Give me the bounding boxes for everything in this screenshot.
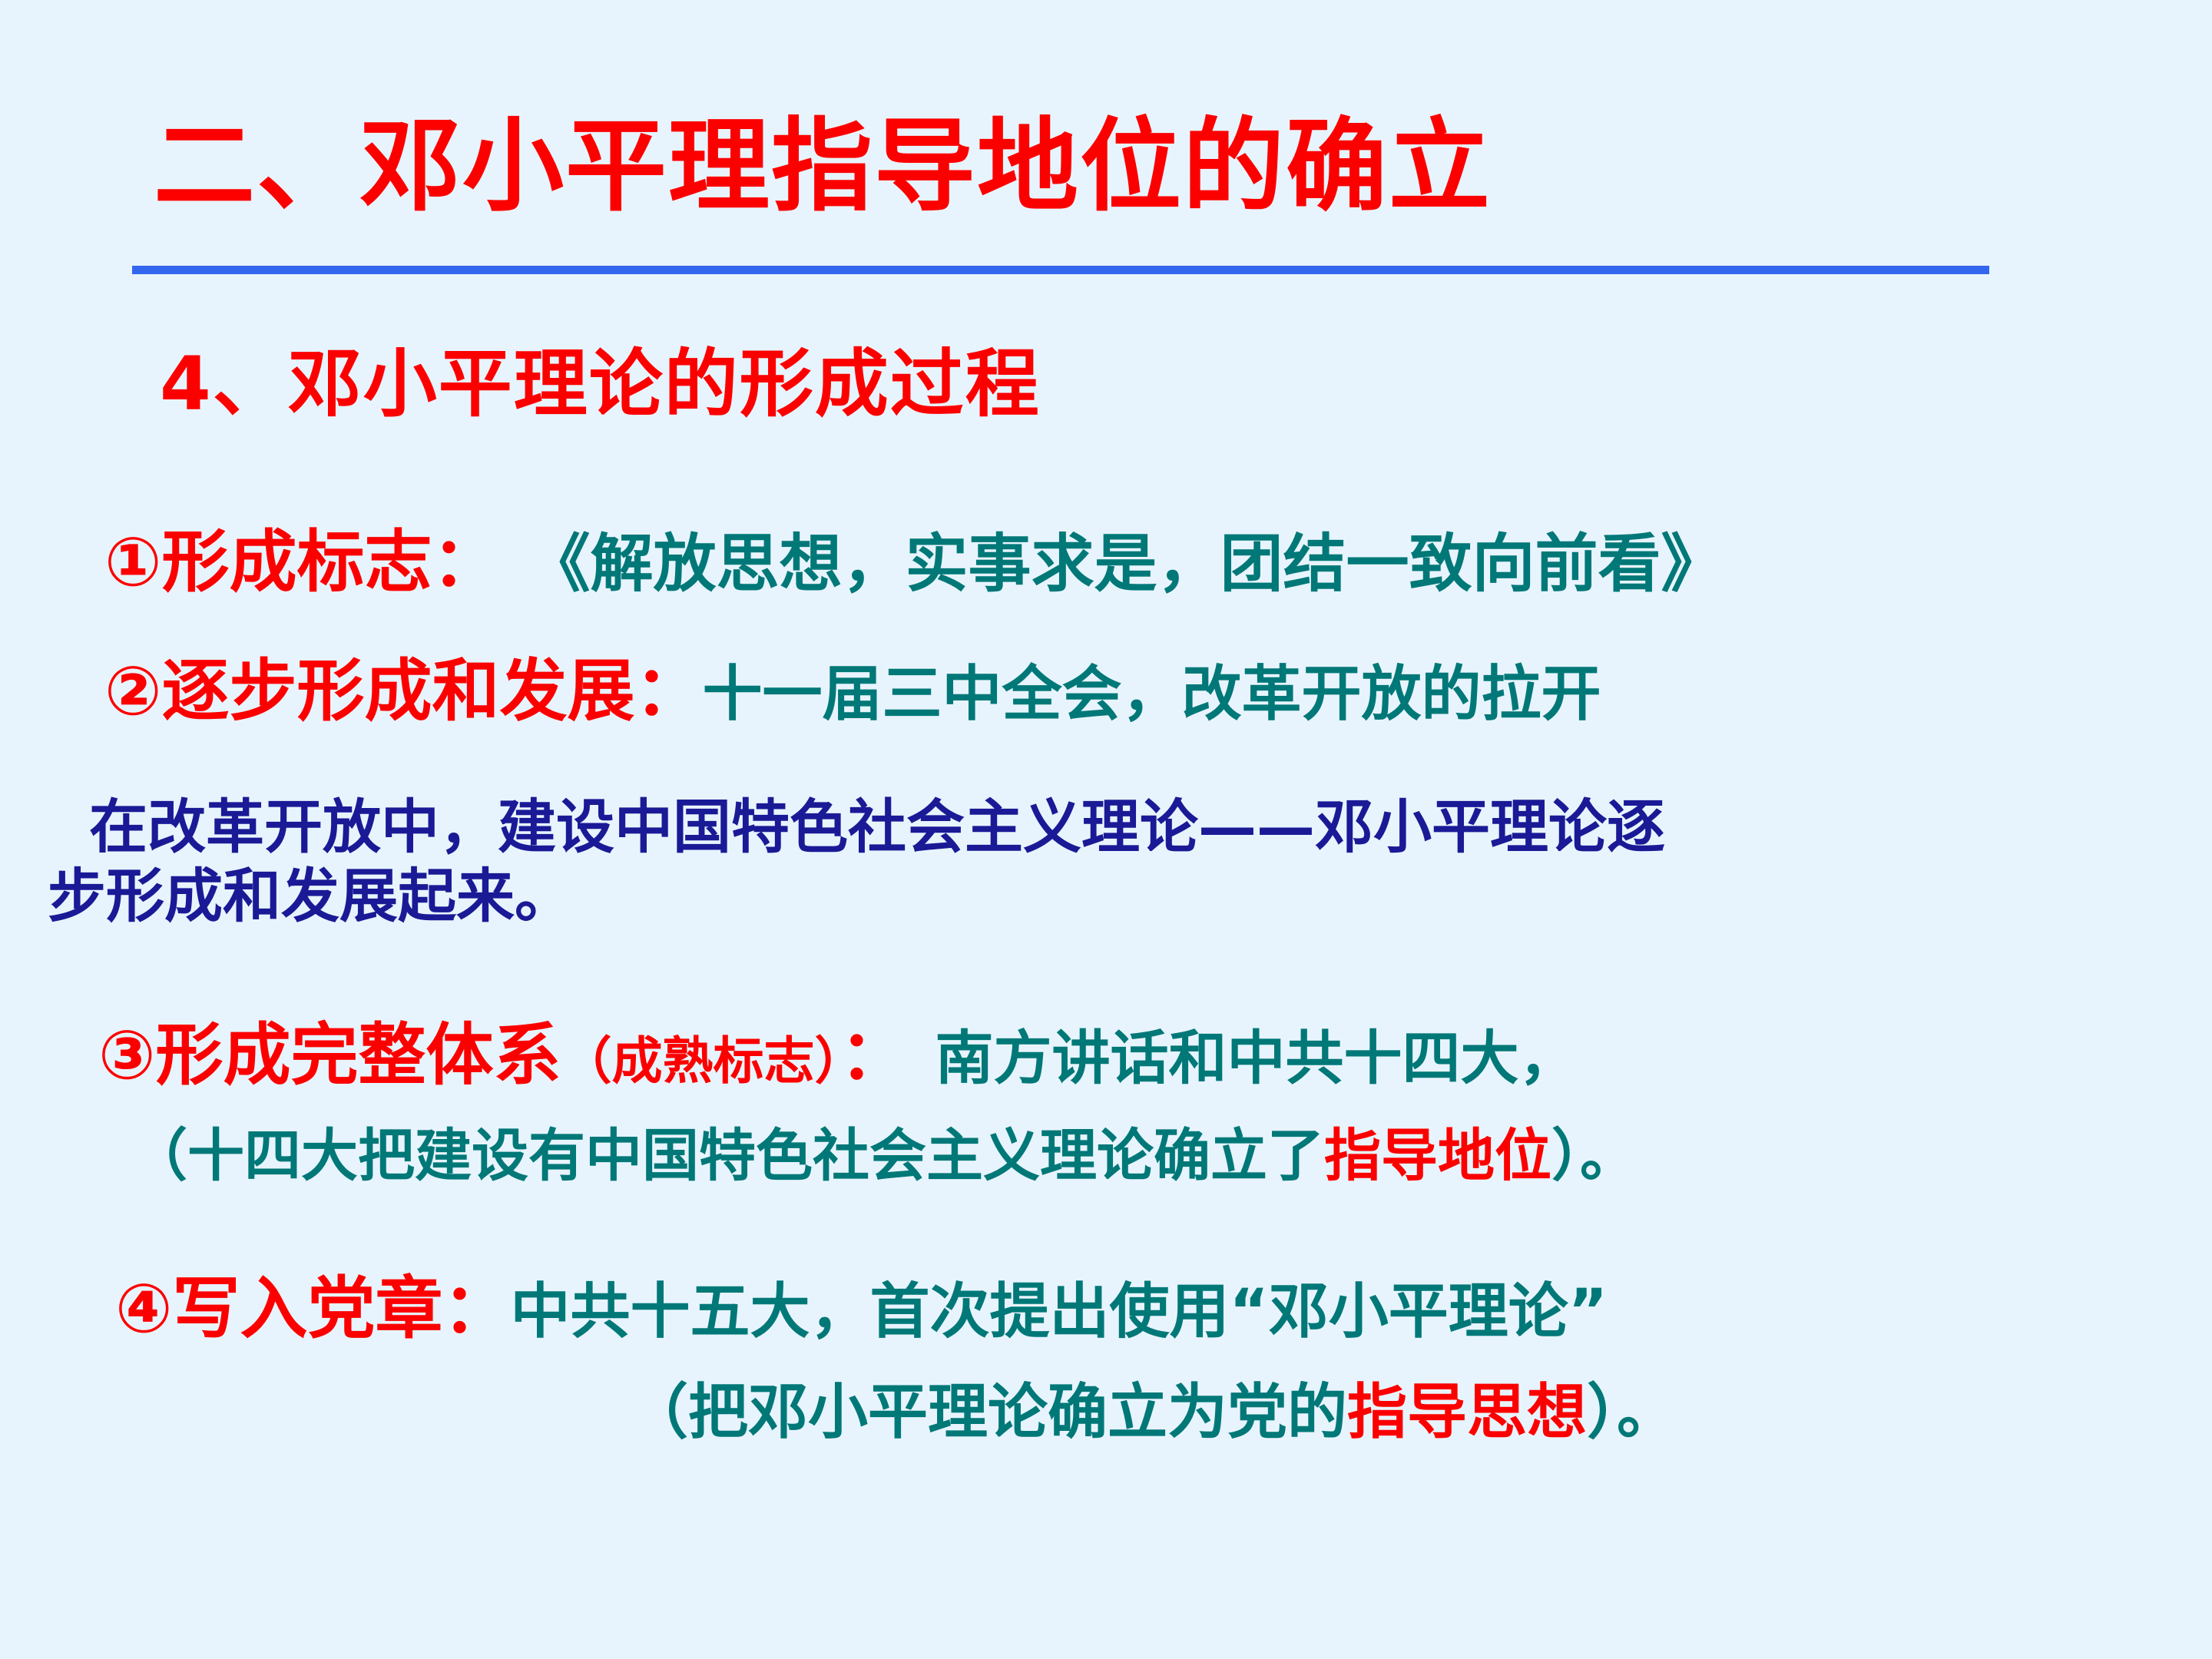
list-item-2-label: ②逐步形成和发展：	[104, 651, 703, 730]
list-item-3-sub-highlight: 指导地位	[1324, 1123, 1551, 1189]
page-title: 二、邓小平理指导地位的确立	[154, 114, 1492, 220]
list-item-3-colon: ：	[840, 1015, 908, 1094]
list-item-4-sub-post: ）。	[1587, 1378, 1677, 1447]
list-item-3-subline: （十四大把建设有中国特色社会主义理论确立了指导地位）。	[131, 1128, 1637, 1184]
list-item-1-label: ①形成标志：	[104, 522, 500, 601]
list-item-4-sub-highlight: 指导思想	[1347, 1378, 1587, 1447]
list-item-3-sub-pre: （十四大把建设有中国特色社会主义理论确立了	[131, 1123, 1324, 1189]
list-item-3-label: ③形成完整体系	[98, 1015, 561, 1094]
title-divider	[132, 266, 1989, 274]
list-item-3-body: 南方讲话和中共十四大，	[935, 1024, 1578, 1092]
list-item-4-sub-pre: （把邓小平理论确立为党的	[628, 1378, 1347, 1447]
list-item-3-sub-post: ）。	[1551, 1123, 1637, 1189]
list-item-1: ①形成标志：《解放思想，实事求是，团结一致向前看》	[104, 528, 1724, 596]
list-item-4: ④写入党章：中共十五大，首次提出使用“邓小平理论”	[115, 1275, 1608, 1343]
section-heading: 4、邓小平理论的形成过程	[160, 324, 1041, 431]
paragraph-line-2: 步形成和发展起来。	[48, 862, 573, 930]
paragraph-line-1: 在改革开放中，建设中国特色社会主义理论——邓小平理论逐	[89, 793, 1665, 861]
slide-canvas: 二、邓小平理指导地位的确立 4、邓小平理论的形成过程 ①形成标志：《解放思想，实…	[0, 0, 2212, 1659]
list-item-2: ②逐步形成和发展：十一届三中全会，改革开放的拉开	[104, 657, 1601, 725]
list-item-4-body: 中共十五大，首次提出使用“邓小平理论”	[511, 1277, 1608, 1346]
list-item-1-body: 《解放思想，实事求是，团结一致向前看》	[528, 528, 1724, 601]
list-item-4-subline: （把邓小平理论确立为党的指导思想）。	[628, 1382, 1677, 1442]
list-item-2-body: 十一届三中全会，改革开放的拉开	[703, 660, 1601, 729]
explanatory-paragraph: 在改革开放中，建设中国特色社会主义理论——邓小平理论逐步形成和发展起来。	[48, 793, 2175, 930]
list-item-3: ③形成完整体系（成熟标志）：南方讲话和中共十四大，	[98, 1022, 1578, 1089]
list-item-4-label: ④写入党章：	[115, 1269, 511, 1348]
list-item-3-note: （成熟标志）	[561, 1031, 840, 1091]
